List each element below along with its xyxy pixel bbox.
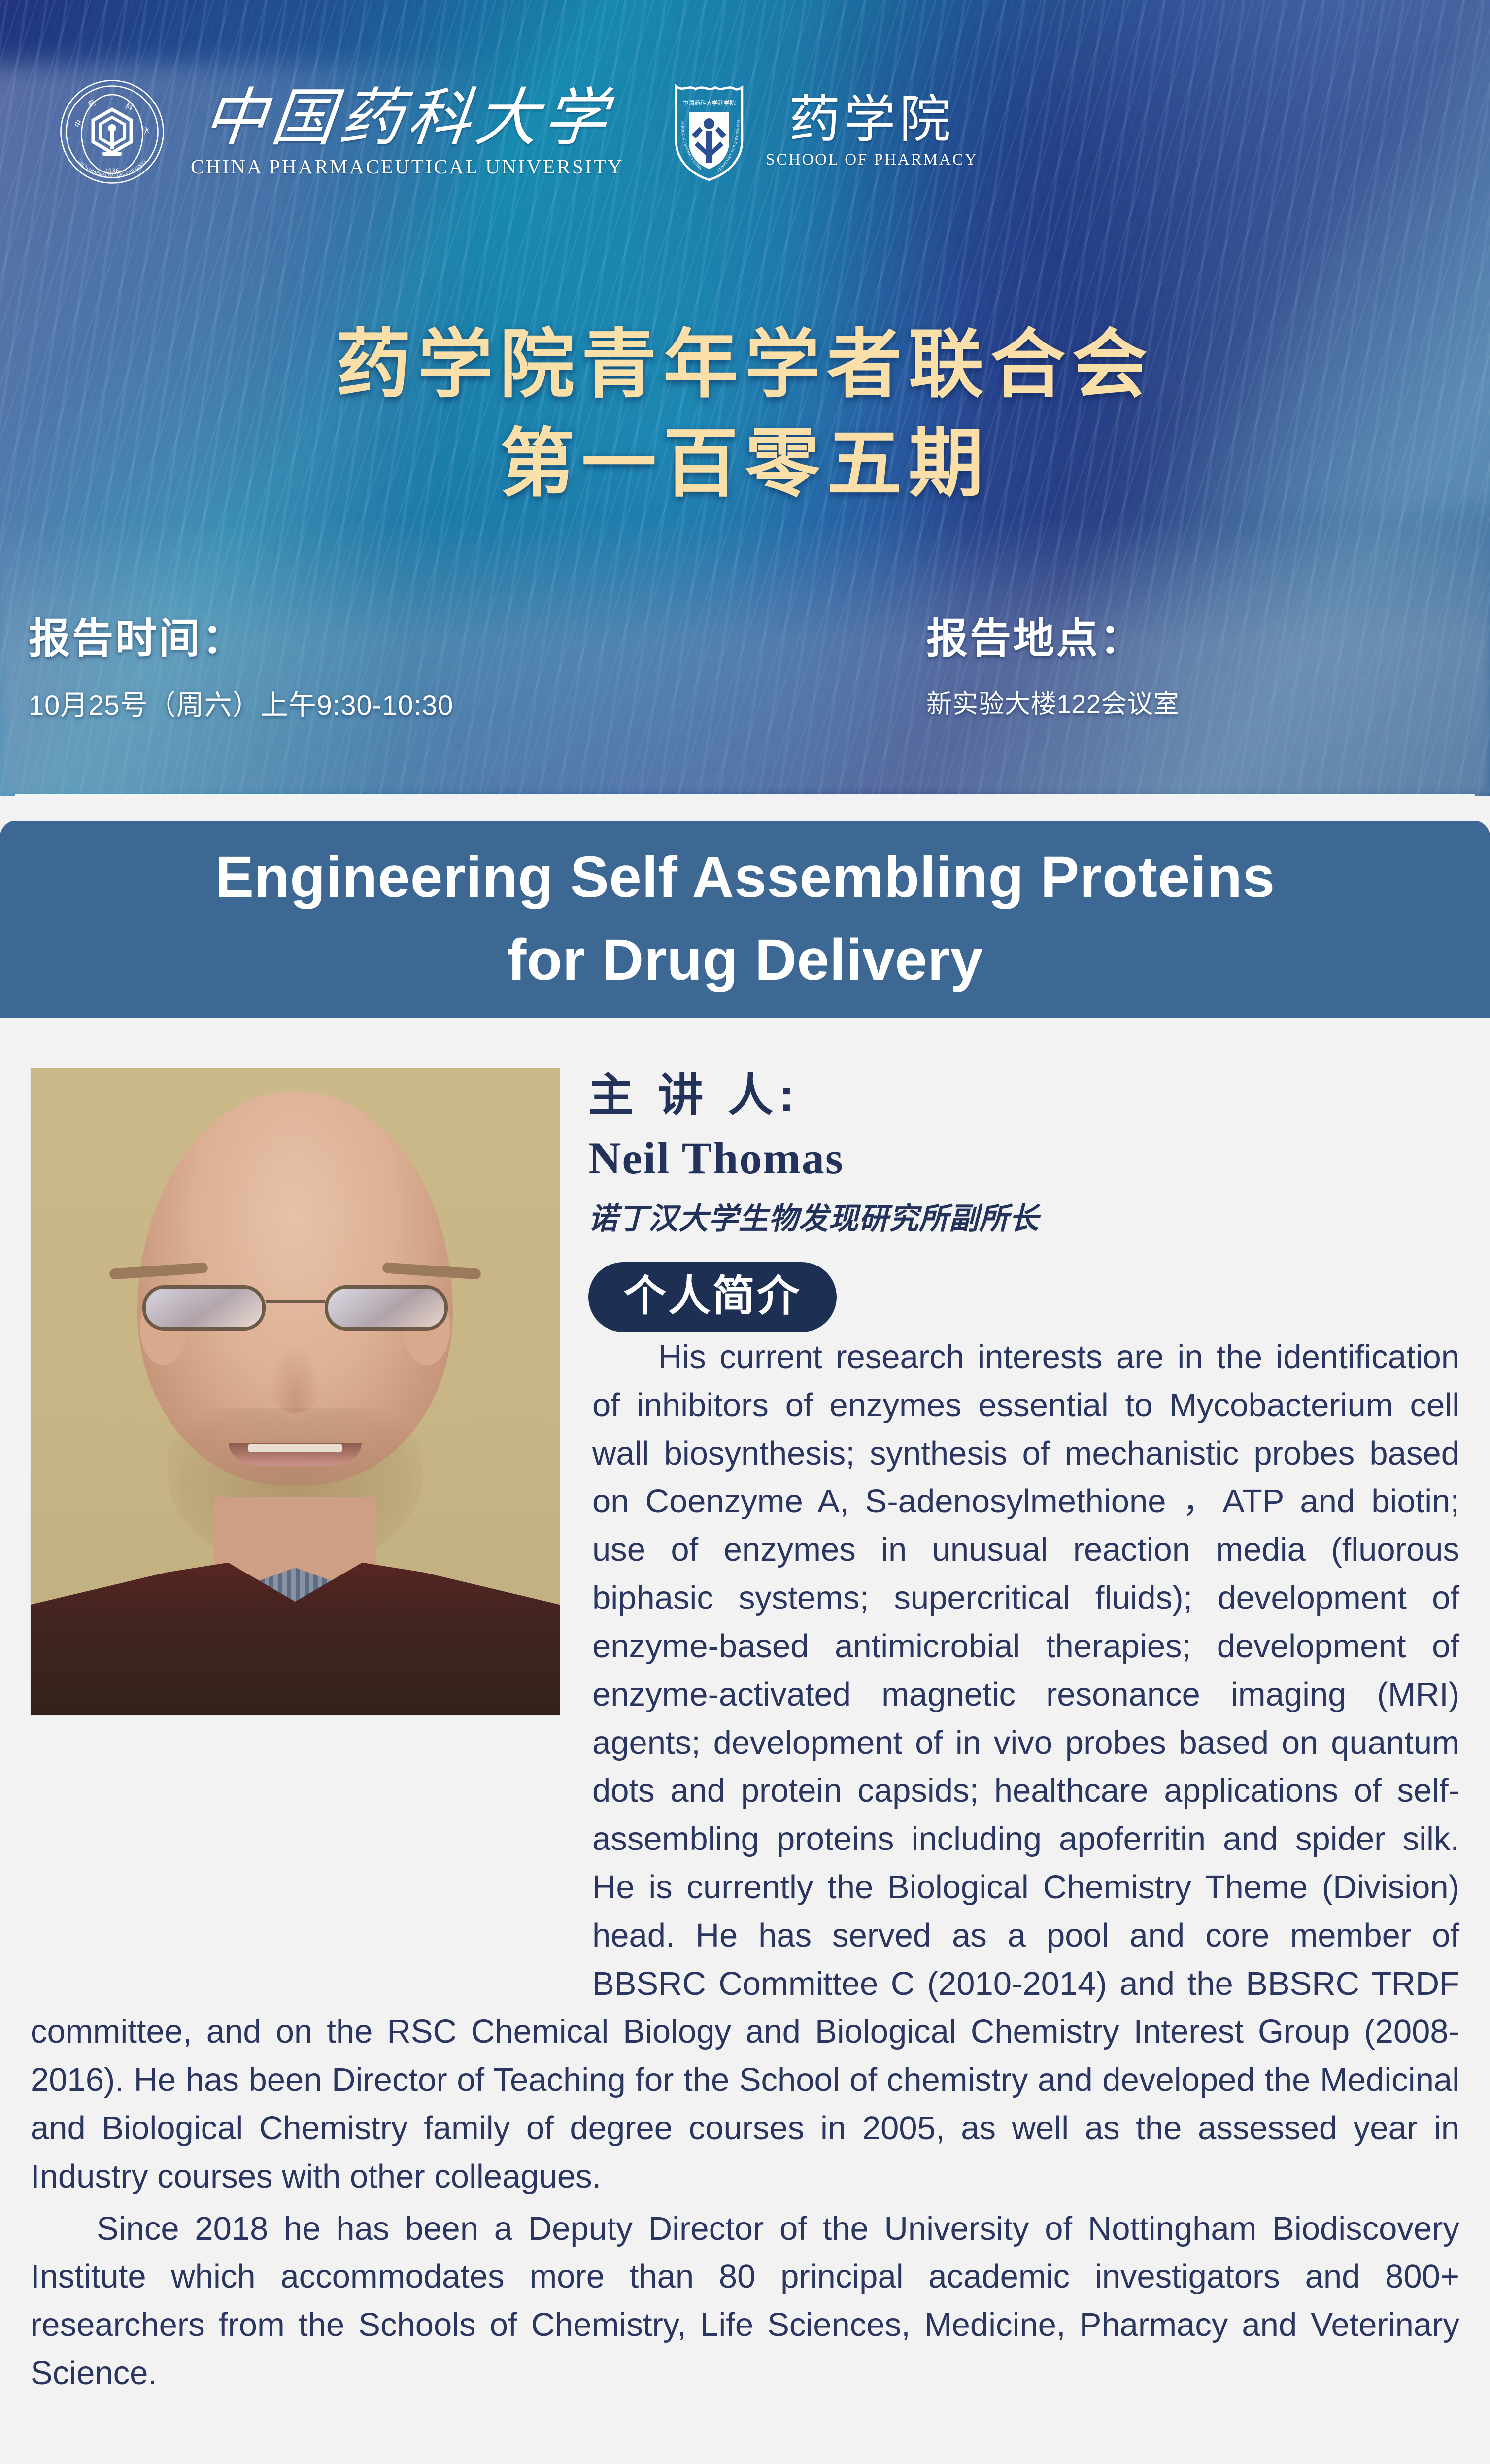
school-name-block: 药学院 SCHOOL OF PHARMACY <box>766 95 978 169</box>
talk-title-line2: for Drug Delivery <box>507 927 983 992</box>
university-name-en: CHINA PHARMACEUTICAL UNIVERSITY <box>191 155 624 178</box>
svg-text:1936: 1936 <box>105 167 120 174</box>
glasses-lens-right <box>325 1285 448 1331</box>
university-seal-icon: 1936 CHINA PHARMACEUTICAL UNIVERSITY 药 科… <box>59 79 165 185</box>
bio-paragraph-2: Since 2018 he has been a Deputy Director… <box>31 2205 1459 2397</box>
event-time-block: 报告时间： 10月25号（周六）上午9:30-10:30 <box>29 616 453 723</box>
profile-badge: 个人简介 <box>588 1262 837 1332</box>
event-time-value: 10月25号（周六）上午9:30-10:30 <box>29 683 453 723</box>
poster-header-banner: 1936 CHINA PHARMACEUTICAL UNIVERSITY 药 科… <box>0 0 1490 796</box>
header-divider-line <box>15 794 1475 796</box>
bio-paragraph-1: His current research interests are in th… <box>31 1333 1459 2201</box>
talk-title-line1: Engineering Self Assembling Proteins <box>215 845 1275 910</box>
event-place-value: 新实验大楼122会议室 <box>926 683 1180 720</box>
svg-text:中国药科大学药学院: 中国药科大学药学院 <box>682 99 736 106</box>
speaker-biography: His current research interests are in th… <box>0 1333 1490 2397</box>
glasses-bridge <box>266 1300 325 1303</box>
talk-title: Engineering Self Assembling Proteins for… <box>161 836 1329 1001</box>
series-title-line1: 药学院青年学者联合会 <box>336 323 1154 407</box>
school-name-en: SCHOOL OF PHARMACY <box>766 151 978 169</box>
event-place-label: 报告地点： <box>926 616 1180 661</box>
speaker-info-block: 主 讲 人: Neil Thomas 诺丁汉大学生物发现研究所副所长 个人简介 <box>588 1071 1456 1332</box>
school-shield-icon: 中国药科大学药学院 SCHOOL OF PHARMACY CHINA PHARM… <box>672 81 746 182</box>
university-name-block: 中国药科大学 CHINA PHARMACEUTICAL UNIVERSITY <box>191 85 624 178</box>
speaker-label: 主 讲 人: <box>588 1071 1456 1121</box>
series-title: 药学院青年学者联合会 第一百零五期 <box>0 315 1490 513</box>
event-place-block: 报告地点： 新实验大楼122会议室 <box>926 616 1180 720</box>
talk-title-banner: Engineering Self Assembling Proteins for… <box>0 821 1490 1018</box>
speaker-name: Neil Thomas <box>588 1133 1456 1183</box>
university-name-cn: 中国药科大学 <box>200 85 615 151</box>
school-name-cn: 药学院 <box>789 95 954 146</box>
logo-row: 1936 CHINA PHARMACEUTICAL UNIVERSITY 药 科… <box>59 79 978 185</box>
series-title-line2: 第一百零五期 <box>0 414 1490 513</box>
event-meta: 报告时间： 10月25号（周六）上午9:30-10:30 报告地点： 新实验大楼… <box>0 611 1490 774</box>
svg-text:科: 科 <box>124 102 134 112</box>
portrait-glasses-icon <box>142 1285 448 1333</box>
glasses-lens-left <box>142 1285 266 1331</box>
event-time-label: 报告时间： <box>29 616 453 661</box>
poster-body: 主 讲 人: Neil Thomas 诺丁汉大学生物发现研究所副所长 个人简介 … <box>0 1018 1490 2464</box>
speaker-affiliation: 诺丁汉大学生物发现研究所副所长 <box>588 1201 1456 1236</box>
